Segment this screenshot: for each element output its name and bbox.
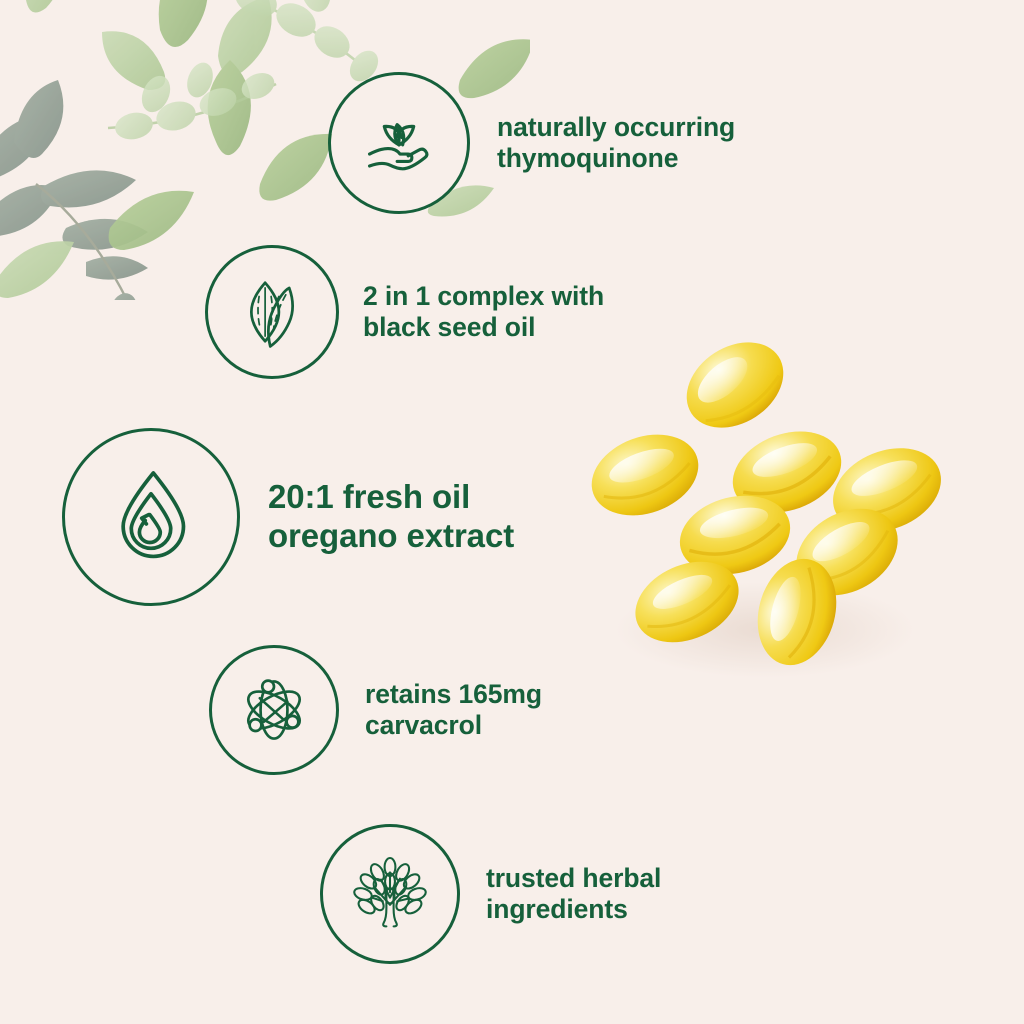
feature-label-2: 2 in 1 complex with black seed oil bbox=[363, 281, 604, 344]
atom-molecule-icon bbox=[232, 668, 316, 752]
capsule bbox=[671, 330, 800, 445]
feature-badge-3 bbox=[62, 428, 240, 606]
feature-badge-1 bbox=[328, 72, 470, 214]
feature-row-oregano-extract: 20:1 fresh oil oregano extract bbox=[62, 428, 514, 606]
capsule bbox=[580, 420, 709, 529]
feature-row-black-seed: 2 in 1 complex with black seed oil bbox=[205, 245, 604, 379]
feature-row-thymoquinone: naturally occurring thymoquinone bbox=[328, 72, 735, 214]
feature-label-1: naturally occurring thymoquinone bbox=[497, 112, 735, 175]
feature-label-5: trusted herbal ingredients bbox=[486, 863, 661, 926]
leaf-cluster-sage bbox=[0, 80, 148, 300]
feature-badge-4 bbox=[209, 645, 339, 775]
infographic-canvas: naturally occurring thymoquinone 2 in 1 … bbox=[0, 0, 1024, 1024]
feature-label-3: 20:1 fresh oil oregano extract bbox=[268, 478, 514, 556]
feature-badge-5 bbox=[320, 824, 460, 964]
tree-icon bbox=[345, 849, 435, 939]
feature-row-trusted-herbal: trusted herbal ingredients bbox=[320, 824, 661, 964]
feature-row-carvacrol: retains 165mg carvacrol bbox=[209, 645, 542, 775]
softgel-capsules-image bbox=[575, 330, 975, 690]
hand-holding-plant-icon bbox=[353, 97, 445, 189]
feature-badge-2 bbox=[205, 245, 339, 379]
oil-droplet-spiral-icon bbox=[93, 459, 209, 575]
black-seed-icon bbox=[229, 269, 315, 355]
feature-label-4: retains 165mg carvacrol bbox=[365, 679, 542, 742]
